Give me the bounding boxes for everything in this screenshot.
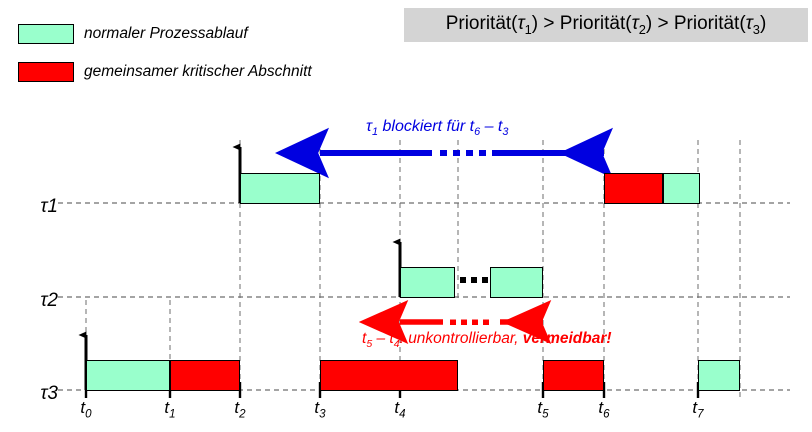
bar-tau3-critical-3 <box>543 360 604 391</box>
red-uncontrollable-arrow <box>400 320 543 326</box>
tick-label-t2: t2 <box>222 398 258 420</box>
bar-tau3-critical-2 <box>320 360 458 391</box>
tick-label-t6: t6 <box>586 398 622 420</box>
tick-label-t0: t0 <box>68 398 104 420</box>
bar-tau2-normal-2 <box>490 267 543 298</box>
row-label-tau3: τ3 <box>18 383 58 405</box>
tick-label-t7: t7 <box>680 398 716 420</box>
bar-tau2-normal-1 <box>400 267 455 298</box>
tick-label-t4: t4 <box>382 398 418 420</box>
diagram-canvas: normaler Prozessablauf gemeinsamer kriti… <box>0 0 812 432</box>
annotation-emphasis: vermeidbar! <box>523 330 612 347</box>
row-label-tau1: τ1 <box>18 196 58 218</box>
bar-tau1-critical-1 <box>604 173 663 204</box>
bar-tau1-normal-2 <box>663 173 700 204</box>
bar-tau3-normal-2 <box>698 360 740 391</box>
tau2-ellipsis-icon <box>460 277 488 283</box>
blue-blocking-arrow <box>320 150 604 156</box>
bar-tau3-normal-1 <box>86 360 170 391</box>
annotation-uncontrollable-label: t5 – t4: unkontrollierbar, vermeidbar! <box>362 330 612 350</box>
bar-tau3-critical-1 <box>170 360 240 391</box>
annotation-blocking-label: τ1 blockiert für t6 – t3 <box>366 118 508 138</box>
tick-label-t3: t3 <box>302 398 338 420</box>
tick-label-t1: t1 <box>152 398 188 420</box>
row-label-tau2: τ2 <box>18 290 58 312</box>
tick-label-t5: t5 <box>525 398 561 420</box>
bar-tau1-normal-1 <box>240 173 320 204</box>
